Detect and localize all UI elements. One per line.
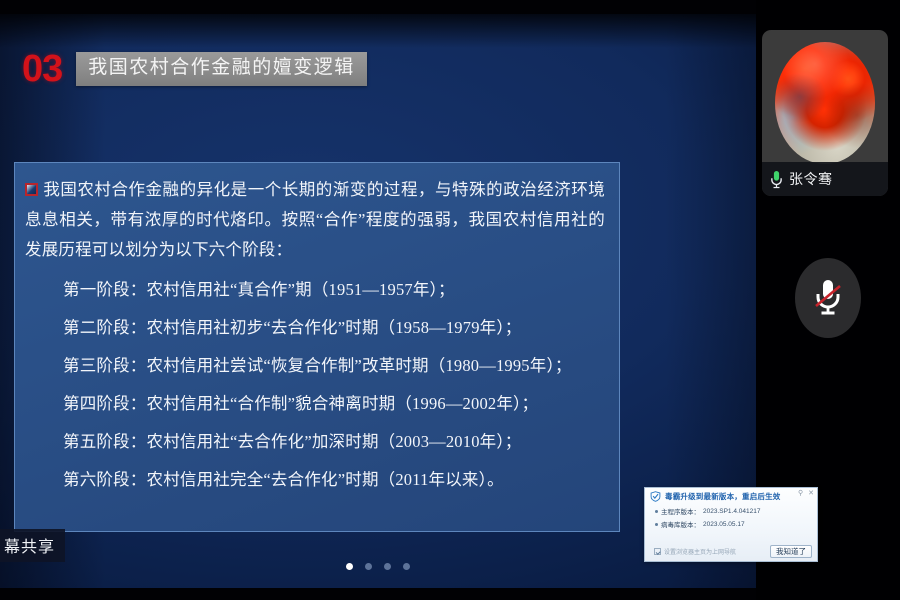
slide-title-row: 03 我国农村合作金融的嬗变逻辑	[22, 50, 367, 88]
page-dot-2[interactable]	[365, 563, 372, 570]
popup-window-controls[interactable]: ⚲ ✕	[798, 490, 814, 497]
mute-toggle-button[interactable]	[795, 258, 861, 338]
screen-share-meeting-window: 03 我国农村合作金融的嬗变逻辑 我国农村合作金融的异化是一个长期的渐变的过程，…	[0, 0, 900, 600]
shield-check-icon	[650, 491, 661, 502]
list-item: 第二阶段：农村信用社初步“去合作化”时期（1958—1979年）；	[63, 309, 605, 347]
checkbox-icon[interactable]	[654, 548, 661, 555]
popup-footer: 设置浏览器主页为上网导航 我知道了	[645, 545, 817, 559]
bullet-icon	[655, 523, 658, 526]
main-program-version-value: 2023.SP1.4.041217	[703, 508, 760, 515]
list-item: 病毒库版本： 2023.05.05.17	[655, 519, 817, 529]
checkbox-bullet-icon	[25, 183, 38, 196]
main-program-version-label: 主程序版本：	[661, 506, 700, 516]
microphone-icon	[770, 170, 783, 189]
bullet-icon	[655, 510, 658, 513]
popup-version-list: 主程序版本： 2023.SP1.4.041217 病毒库版本： 2023.05.…	[645, 502, 817, 529]
participant-name-bar: 张令骞	[762, 162, 888, 196]
slide-stage-list: 第一阶段：农村信用社“真合作”期（1951—1957年）； 第二阶段：农村信用社…	[25, 271, 605, 499]
slide-page-indicator[interactable]	[0, 563, 756, 570]
list-item: 主程序版本： 2023.SP1.4.041217	[655, 506, 817, 516]
acknowledge-button[interactable]: 我知道了	[770, 545, 812, 559]
slide-content-panel: 我国农村合作金融的异化是一个长期的渐变的过程，与特殊的政治经济环境息息相关，带有…	[14, 162, 620, 532]
slide-section-number: 03	[22, 50, 62, 88]
list-item: 第一阶段：农村信用社“真合作”期（1951—1957年）；	[63, 271, 605, 309]
list-item: 第六阶段：农村信用社完全“去合作化”时期（2011年以来）。	[63, 461, 605, 499]
shared-slide-area: 03 我国农村合作金融的嬗变逻辑 我国农村合作金融的异化是一个长期的渐变的过程，…	[0, 14, 756, 588]
avatar	[775, 42, 875, 164]
page-dot-3[interactable]	[384, 563, 391, 570]
page-dot-4[interactable]	[403, 563, 410, 570]
set-homepage-label: 设置浏览器主页为上网导航	[664, 547, 736, 556]
antivirus-update-popup[interactable]: 毒霸升级到最新版本，重启后生效 ⚲ ✕ 主程序版本： 2023.SP1.4.04…	[644, 487, 818, 562]
participant-video-tile[interactable]: 张令骞	[762, 30, 888, 196]
list-item: 第四阶段：农村信用社“合作制”貌合神离时期（1996—2002年）；	[63, 385, 605, 423]
participant-name: 张令骞	[789, 169, 833, 189]
close-icon[interactable]: ✕	[808, 490, 814, 497]
page-dot-1[interactable]	[346, 563, 353, 570]
popup-title: 毒霸升级到最新版本，重启后生效	[665, 491, 781, 502]
slide-paragraph-block: 我国农村合作金融的异化是一个长期的渐变的过程，与特殊的政治经济环境息息相关，带有…	[25, 175, 605, 265]
screen-share-indicator-label: 幕共享	[0, 529, 65, 562]
list-item: 第三阶段：农村信用社尝试“恢复合作制”改革时期（1980—1995年）；	[63, 347, 605, 385]
microphone-muted-icon	[813, 278, 843, 318]
list-item: 第五阶段：农村信用社“去合作化”加深时期（2003—2010年）；	[63, 423, 605, 461]
virus-db-version-value: 2023.05.05.17	[703, 521, 745, 528]
popup-header: 毒霸升级到最新版本，重启后生效 ⚲ ✕	[645, 488, 817, 502]
slide-title-chip: 我国农村合作金融的嬗变逻辑	[76, 52, 367, 87]
set-homepage-checkbox[interactable]: 设置浏览器主页为上网导航	[654, 547, 736, 556]
slide-paragraph-text: 我国农村合作金融的异化是一个长期的渐变的过程，与特殊的政治经济环境息息相关，带有…	[25, 180, 605, 259]
virus-db-version-label: 病毒库版本：	[661, 519, 700, 529]
pin-icon[interactable]: ⚲	[798, 490, 803, 497]
